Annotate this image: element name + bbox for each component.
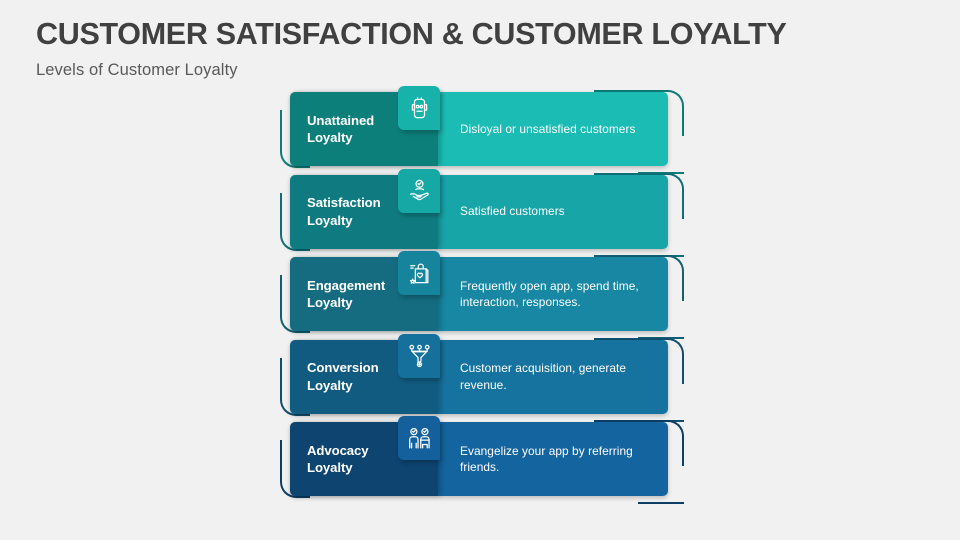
loyalty-level-card[interactable]: Engagement Loyalty Frequently open app, … — [290, 257, 668, 331]
unhappy-customer-icon — [398, 86, 440, 130]
loyalty-level-label: Conversion Loyalty — [307, 359, 379, 393]
loyalty-level-card[interactable]: Advocacy Loyalty Evangelize your app by … — [290, 422, 668, 496]
loyalty-level-description: Satisfied customers — [460, 203, 565, 219]
loyalty-level-row: Advocacy Loyalty Evangelize your app by … — [276, 418, 686, 500]
loyalty-level-description: Disloyal or unsatisfied customers — [460, 121, 635, 137]
loyalty-level-row: Conversion Loyalty Customer acquisition,… — [276, 336, 686, 418]
loyalty-level-description-panel: Satisfied customers — [438, 175, 668, 249]
customer-rating-hand-icon — [398, 169, 440, 213]
referral-people-icon — [398, 416, 440, 460]
header: CUSTOMER SATISFACTION & CUSTOMER LOYALTY… — [36, 18, 916, 80]
loyalty-level-description-panel: Customer acquisition, generate revenue. — [438, 340, 668, 414]
loyalty-level-description: Evangelize your app by referring friends… — [460, 443, 654, 476]
conversion-funnel-icon — [398, 334, 440, 378]
loyalty-level-description-panel: Disloyal or unsatisfied customers — [438, 92, 668, 166]
loyalty-level-description-panel: Frequently open app, spend time, interac… — [438, 257, 668, 331]
loyalty-level-row: Engagement Loyalty Frequently open app, … — [276, 253, 686, 335]
loyalty-level-card[interactable]: Conversion Loyalty Customer acquisition,… — [290, 340, 668, 414]
loyalty-level-card[interactable]: Unattained Loyalty Disloyal or unsatisfi… — [290, 92, 668, 166]
loyalty-level-label: Satisfaction Loyalty — [307, 194, 381, 228]
loyalty-level-card[interactable]: Satisfaction Loyalty Satisfied customers — [290, 175, 668, 249]
loyalty-level-row: Satisfaction Loyalty Satisfied customers — [276, 171, 686, 253]
loyalty-level-label: Engagement Loyalty — [307, 277, 385, 311]
loyalty-level-row: Unattained Loyalty Disloyal or unsatisfi… — [276, 88, 686, 170]
page-subtitle: Levels of Customer Loyalty — [36, 61, 916, 80]
loyalty-level-label: Advocacy Loyalty — [307, 442, 369, 476]
shopping-bag-heart-icon — [398, 251, 440, 295]
page-title: CUSTOMER SATISFACTION & CUSTOMER LOYALTY — [36, 18, 916, 51]
bracket-right-foot-decoration — [638, 502, 684, 504]
loyalty-levels-diagram: Unattained Loyalty Disloyal or unsatisfi… — [0, 88, 960, 518]
loyalty-level-description: Frequently open app, spend time, interac… — [460, 278, 654, 311]
loyalty-level-description: Customer acquisition, generate revenue. — [460, 360, 654, 393]
loyalty-level-label: Unattained Loyalty — [307, 112, 374, 146]
loyalty-level-description-panel: Evangelize your app by referring friends… — [438, 422, 668, 496]
